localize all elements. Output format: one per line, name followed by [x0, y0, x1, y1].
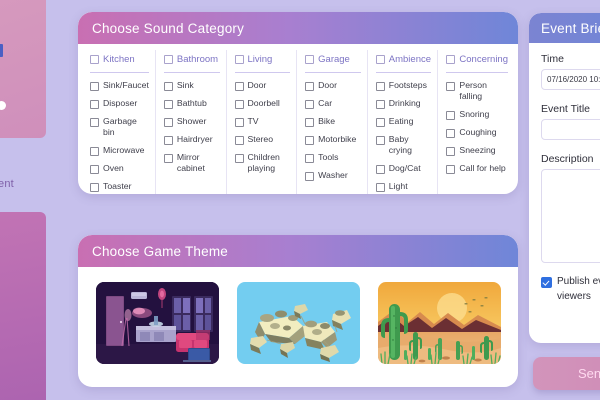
sound-option-label: Light switch	[389, 181, 432, 194]
category-label-concerning: Concerning	[459, 54, 508, 65]
checkbox-icon[interactable]	[376, 165, 385, 174]
sound-option-label: Stereo	[248, 134, 274, 145]
sound-option-label: Baby crying	[389, 134, 432, 156]
checkbox-icon[interactable]	[305, 100, 314, 109]
checkbox-icon[interactable]	[164, 118, 173, 127]
checkbox-category-kitchen-icon[interactable]	[90, 55, 99, 64]
checkbox-icon[interactable]	[446, 129, 455, 138]
sound-option[interactable]: Person falling	[446, 80, 508, 102]
send-button[interactable]: Send	[533, 357, 600, 390]
checkbox-icon[interactable]	[376, 118, 385, 127]
sound-category-grid: Kitchen Sink/Faucet Disposer Garbage bin…	[78, 44, 518, 194]
sound-option-label: Bathtub	[177, 98, 207, 109]
category-header-kitchen[interactable]: Kitchen	[90, 54, 149, 73]
category-header-bathroom[interactable]: Bathroom	[164, 54, 220, 73]
sound-option-label: Microwave	[103, 145, 145, 156]
sound-option-label: Washer	[318, 170, 348, 181]
event-brief-title: Event Brief	[541, 21, 600, 36]
checkbox-category-concerning-icon[interactable]	[446, 55, 455, 64]
sound-option[interactable]: Microwave	[90, 145, 149, 156]
checkbox-category-ambience-icon[interactable]	[376, 55, 385, 64]
sound-option-label: Sink	[177, 80, 194, 91]
sound-option[interactable]: Washer	[305, 170, 361, 181]
event-title-field-label: Event Title	[541, 103, 600, 115]
sound-option-label: Hairdryer	[177, 134, 213, 145]
sound-option-label: TV	[248, 116, 259, 127]
sound-option-label: Garbage bin	[103, 116, 149, 138]
time-input-value: 07/16/2020 10:	[547, 75, 600, 84]
sound-option[interactable]: Light switch	[376, 181, 432, 194]
time-field-label: Time	[541, 53, 600, 65]
sound-option-label: Door	[248, 80, 267, 91]
sound-option[interactable]: Oven	[90, 163, 149, 174]
game-theme-thumbnail-floating-islands[interactable]	[237, 282, 360, 364]
game-theme-card: Choose Game Theme	[78, 235, 518, 387]
sound-option[interactable]: Children playing	[235, 152, 291, 174]
category-header-concerning[interactable]: Concerning	[446, 54, 508, 73]
category-label-kitchen: Kitchen	[103, 54, 135, 65]
sound-option[interactable]: Baby crying	[376, 134, 432, 156]
checkbox-icon[interactable]	[446, 111, 455, 120]
sound-option-label: Coughing	[459, 127, 496, 138]
sound-option-label: Motorbike	[318, 134, 356, 145]
sound-option[interactable]: Call for help	[446, 163, 508, 174]
sound-category-card: Choose Sound Category Kitchen Sink/Fauce…	[78, 12, 518, 194]
sound-category-header: Choose Sound Category	[78, 12, 518, 44]
checkbox-icon[interactable]	[90, 183, 99, 192]
sound-option[interactable]: Garbage bin	[90, 116, 149, 138]
checkbox-category-bathroom-icon[interactable]	[164, 55, 173, 64]
sound-option[interactable]: Tools	[305, 152, 361, 163]
checkbox-icon[interactable]	[235, 118, 244, 127]
sound-option-label: Tools	[318, 152, 338, 163]
checkbox-icon[interactable]	[305, 172, 314, 181]
sound-option[interactable]: Door	[235, 80, 291, 91]
sound-option[interactable]: Stereo	[235, 134, 291, 145]
checkbox-icon[interactable]	[164, 82, 173, 91]
sound-category-title: Choose Sound Category	[92, 21, 244, 36]
sound-option[interactable]: Drinking	[376, 98, 432, 109]
category-label-living: Living	[248, 54, 273, 65]
sound-option[interactable]: Dog/Cat	[376, 163, 432, 174]
sound-option[interactable]: Doorbell	[235, 98, 291, 109]
background-panel-fragment-bottom	[0, 212, 46, 400]
game-theme-thumbnail-row	[78, 267, 518, 379]
game-theme-header: Choose Game Theme	[78, 235, 518, 267]
sound-option-label: Car	[318, 98, 332, 109]
sound-option-label: Dog/Cat	[389, 163, 421, 174]
sound-option[interactable]: Car	[305, 98, 361, 109]
publish-label: Publish event to viewers	[557, 275, 600, 304]
sound-option[interactable]: Disposer	[90, 98, 149, 109]
checkbox-icon[interactable]	[164, 154, 173, 163]
checkbox-icon[interactable]	[90, 165, 99, 174]
checkbox-icon[interactable]	[235, 154, 244, 163]
sound-option-label: Children playing	[248, 152, 291, 174]
game-theme-thumbnail-dark-living-room[interactable]	[96, 282, 219, 364]
sound-option[interactable]: TV	[235, 116, 291, 127]
sound-category-column-living: Living Door Doorbell TV Stereo	[227, 50, 298, 194]
description-field-label: Description	[541, 153, 600, 165]
checkbox-icon[interactable]	[305, 154, 314, 163]
checkbox-category-living-icon[interactable]	[235, 55, 244, 64]
checkbox-icon[interactable]	[90, 100, 99, 109]
category-header-garage[interactable]: Garage	[305, 54, 361, 73]
event-brief-body: Time 07/16/2020 10: Event Title Descript…	[529, 43, 600, 304]
sound-option[interactable]: Motorbike	[305, 134, 361, 145]
game-theme-thumbnail-desert-cactus[interactable]	[378, 282, 501, 364]
checkbox-icon[interactable]	[305, 118, 314, 127]
sound-option[interactable]: Sink	[164, 80, 220, 91]
sound-option-label: Shower	[177, 116, 206, 127]
sound-option[interactable]: Eating	[376, 116, 432, 127]
sound-option-label: Drinking	[389, 98, 421, 109]
checkbox-icon[interactable]	[164, 100, 173, 109]
checkbox-checked-icon[interactable]	[541, 277, 552, 288]
category-header-living[interactable]: Living	[235, 54, 291, 73]
sound-option[interactable]: Shower	[164, 116, 220, 127]
sound-option-label: Snoring	[459, 109, 489, 120]
checkbox-category-garage-icon[interactable]	[305, 55, 314, 64]
checkbox-icon[interactable]	[446, 82, 455, 91]
sound-option[interactable]: Hairdryer	[164, 134, 220, 145]
publish-checkbox-row[interactable]: Publish event to viewers	[541, 275, 600, 304]
sound-option-label: Oven	[103, 163, 124, 174]
event-brief-header: Event Brief	[529, 13, 600, 43]
checkbox-icon[interactable]	[235, 136, 244, 145]
sound-option[interactable]: Sneezing	[446, 145, 508, 156]
event-title-input[interactable]	[541, 119, 600, 140]
checkbox-icon[interactable]	[235, 82, 244, 91]
sound-option[interactable]: Bathtub	[164, 98, 220, 109]
checkbox-icon[interactable]	[376, 82, 385, 91]
time-input[interactable]: 07/16/2020 10:	[541, 69, 600, 90]
sound-category-column-garage: Garage Door Car Bike Motorbike	[297, 50, 368, 194]
checkbox-icon[interactable]	[376, 183, 385, 192]
checkbox-icon[interactable]	[305, 136, 314, 145]
category-header-ambience[interactable]: Ambience	[376, 54, 432, 73]
sound-option-label: Call for help	[459, 163, 505, 174]
checkbox-icon[interactable]	[90, 118, 99, 127]
sound-option-label: Sneezing	[459, 145, 495, 156]
checkbox-icon[interactable]	[376, 136, 385, 145]
description-textarea[interactable]	[541, 169, 600, 263]
sound-option[interactable]: Sink/Faucet	[90, 80, 149, 91]
sound-option-label: Disposer	[103, 98, 137, 109]
sound-category-column-kitchen: Kitchen Sink/Faucet Disposer Garbage bin…	[82, 50, 156, 194]
checkbox-icon[interactable]	[90, 147, 99, 156]
sound-option-label: Toaster	[103, 181, 132, 192]
category-label-bathroom: Bathroom	[177, 54, 218, 65]
category-label-garage: Garage	[318, 54, 350, 65]
sound-option-label: Mirror cabinet	[177, 152, 220, 174]
sound-option-label: Door	[318, 80, 337, 91]
category-label-ambience: Ambience	[389, 54, 431, 65]
send-button-label: Send	[578, 366, 600, 381]
background-truncated-label: ent	[0, 178, 14, 190]
sound-option[interactable]: Toaster	[90, 181, 149, 192]
sound-option-label: Eating	[389, 116, 414, 127]
sound-category-column-bathroom: Bathroom Sink Bathtub Shower Hairdryer	[156, 50, 227, 194]
sound-option-label: Doorbell	[248, 98, 280, 109]
sound-category-column-ambience: Ambience Footsteps Drinking Eating Baby …	[368, 50, 439, 194]
app-screen: ent Choose Sound Category Kitchen Sink/F…	[0, 0, 600, 400]
checkbox-icon[interactable]	[376, 100, 385, 109]
event-brief-panel: Event Brief Time 07/16/2020 10: Event Ti…	[529, 13, 600, 343]
sound-category-column-concerning: Concerning Person falling Snoring Coughi…	[438, 50, 514, 194]
checkbox-icon[interactable]	[305, 82, 314, 91]
sound-option[interactable]: Footsteps	[376, 80, 432, 91]
sound-option-label: Footsteps	[389, 80, 427, 91]
checkbox-icon[interactable]	[446, 147, 455, 156]
background-accent-bar	[0, 44, 3, 57]
sound-option-label: Bike	[318, 116, 335, 127]
sound-option[interactable]: Snoring	[446, 109, 508, 120]
checkbox-icon[interactable]	[90, 82, 99, 91]
sound-option-label: Sink/Faucet	[103, 80, 149, 91]
checkbox-icon[interactable]	[446, 165, 455, 174]
game-theme-title: Choose Game Theme	[92, 244, 228, 259]
checkbox-icon[interactable]	[235, 100, 244, 109]
sound-option[interactable]: Mirror cabinet	[164, 152, 220, 174]
sound-option[interactable]: Coughing	[446, 127, 508, 138]
checkbox-icon[interactable]	[164, 136, 173, 145]
background-panel-fragment-top	[0, 0, 46, 138]
sound-option[interactable]: Door	[305, 80, 361, 91]
sound-option[interactable]: Bike	[305, 116, 361, 127]
sound-option-label: Person falling	[459, 80, 508, 102]
